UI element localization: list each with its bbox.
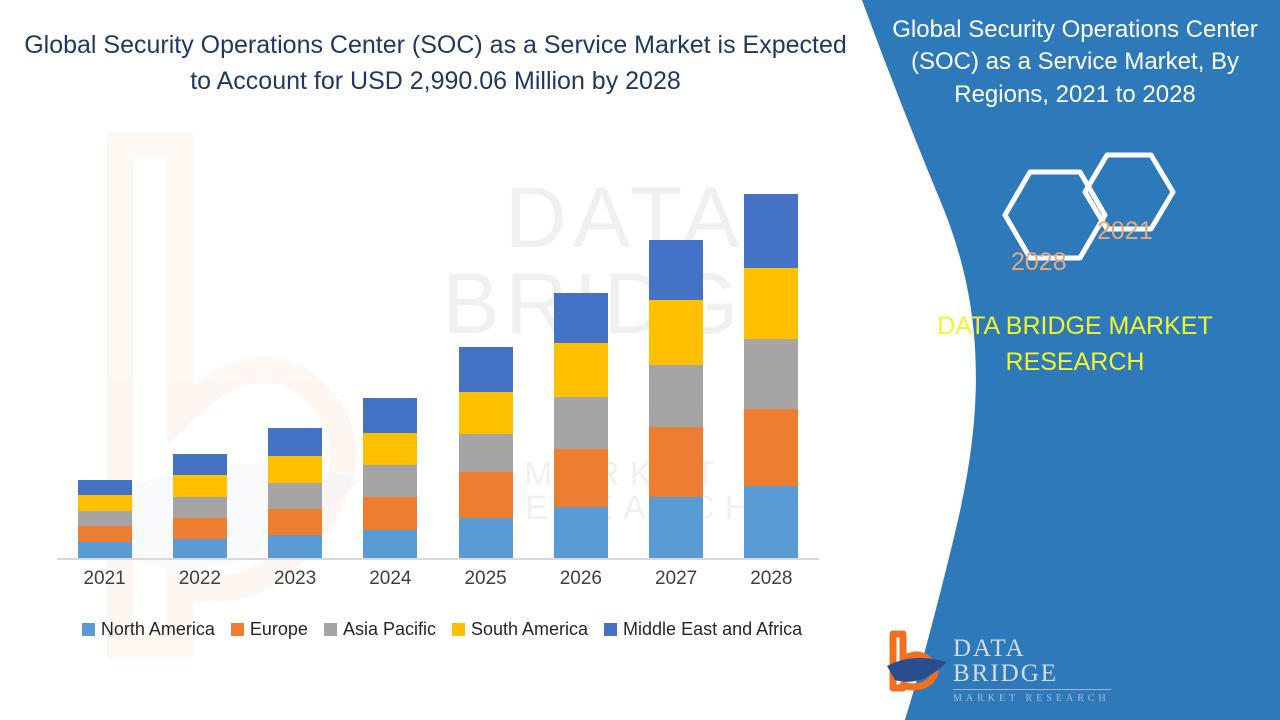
bar-2024[interactable] [363,398,417,560]
legend-item[interactable]: North America [82,619,215,640]
x-tick-2022: 2022 [152,568,248,590]
panel-content: Global Security Operations Center (SOC) … [880,0,1280,720]
hex-badge-2021-label: 2021 [1097,217,1153,246]
x-tick-2027: 2027 [628,568,724,590]
bar-segment[interactable] [649,365,703,427]
bar-segment[interactable] [78,511,132,526]
bar-segment[interactable] [363,433,417,465]
bar-segment[interactable] [554,507,608,560]
bar-segment[interactable] [363,465,417,497]
bar-segment[interactable] [744,409,798,486]
legend-item[interactable]: Europe [231,619,308,640]
x-axis-line [57,558,819,560]
bar-segment[interactable] [554,293,608,343]
legend-swatch-icon [324,623,337,636]
bar-segment[interactable] [268,535,322,560]
bar-segment[interactable] [744,339,798,409]
bar-segment[interactable] [459,392,513,434]
bar-segment[interactable] [173,475,227,497]
bar-2025[interactable] [459,347,513,560]
legend-item[interactable]: Asia Pacific [324,619,436,640]
x-axis-labels: 20212022202320242025202620272028 [57,568,819,598]
legend-label: Middle East and Africa [623,619,802,640]
bar-segment[interactable] [459,518,513,560]
x-tick-2023: 2023 [247,568,343,590]
chart-legend: North AmericaEuropeAsia PacificSouth Ame… [57,615,827,643]
logo-divider [953,689,1111,690]
logo-mark-icon [885,630,955,692]
brand-name: DATA BRIDGE MARKET RESEARCH [880,308,1270,381]
bar-segment[interactable] [554,397,608,449]
bar-segment[interactable] [363,530,417,560]
chart-plot-area [57,150,819,560]
bar-segment[interactable] [554,343,608,397]
bar-segment[interactable] [268,483,322,509]
bar-2021[interactable] [78,480,132,560]
bar-segment[interactable] [78,526,132,542]
legend-swatch-icon [82,623,95,636]
bar-segment[interactable] [363,398,417,433]
legend-item[interactable]: South America [452,619,588,640]
logo-wordmark-line2: MARKET RESEARCH [953,694,1118,704]
x-tick-2025: 2025 [438,568,534,590]
bar-segment[interactable] [78,480,132,495]
panel-title: Global Security Operations Center (SOC) … [880,14,1270,111]
bar-2026[interactable] [554,293,608,560]
bar-segment[interactable] [459,434,513,472]
legend-swatch-icon [604,623,617,636]
legend-label: North America [101,619,215,640]
bar-segment[interactable] [744,194,798,268]
bar-segment[interactable] [649,300,703,365]
x-tick-2028: 2028 [723,568,819,590]
legend-swatch-icon [231,623,244,636]
logo-wordmark-line1: DATA BRIDGE [953,636,1118,686]
page-title: Global Security Operations Center (SOC) … [18,28,853,99]
bar-segment[interactable] [173,497,227,518]
bar-2028[interactable] [744,194,798,560]
bar-segment[interactable] [649,427,703,497]
bar-segment[interactable] [78,495,132,511]
bar-segment[interactable] [744,486,798,560]
legend-label: Asia Pacific [343,619,436,640]
logo-wordmark: DATA BRIDGE MARKET RESEARCH [953,636,1118,704]
bar-2023[interactable] [268,428,322,560]
bar-segment[interactable] [554,449,608,507]
bar-segment[interactable] [744,268,798,339]
bar-segment[interactable] [268,509,322,535]
bar-segment[interactable] [363,497,417,530]
bar-segment[interactable] [459,347,513,392]
bar-segment[interactable] [459,472,513,518]
bar-segment[interactable] [173,454,227,475]
legend-swatch-icon [452,623,465,636]
legend-label: Europe [250,619,308,640]
hex-badge-group: 2021 2028 [975,145,1195,285]
company-logo: DATA BRIDGE MARKET RESEARCH [885,630,1115,696]
hex-badge-2028-label: 2028 [1011,248,1067,277]
bar-segment[interactable] [268,456,322,483]
x-tick-2021: 2021 [57,568,153,590]
bar-segment[interactable] [268,428,322,456]
bar-2022[interactable] [173,454,227,560]
bar-segment[interactable] [649,497,703,560]
bar-segment[interactable] [173,539,227,560]
x-tick-2024: 2024 [342,568,438,590]
x-tick-2026: 2026 [533,568,629,590]
bar-2027[interactable] [649,240,703,560]
legend-label: South America [471,619,588,640]
bar-segment[interactable] [173,518,227,539]
bar-segment[interactable] [649,240,703,300]
legend-item[interactable]: Middle East and Africa [604,619,802,640]
